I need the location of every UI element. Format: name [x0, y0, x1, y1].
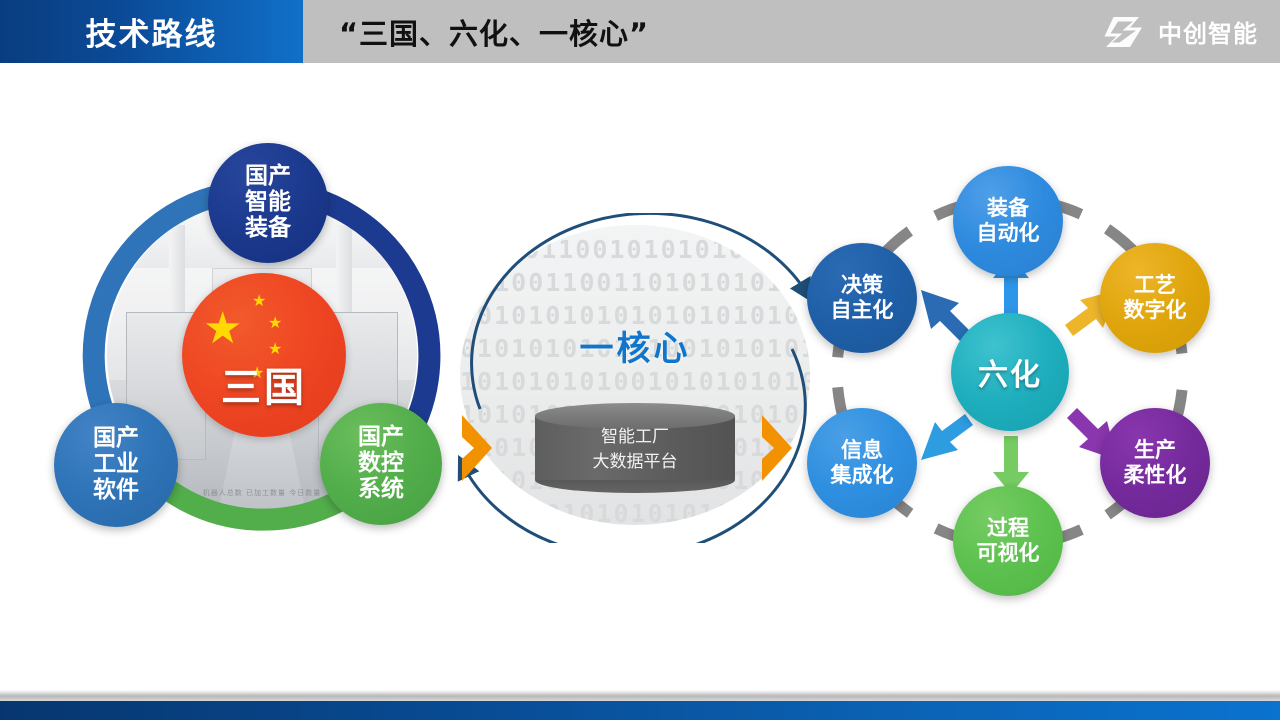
page-title: “三国、六化、一核心” — [303, 0, 1003, 63]
sanguo-group: 机器人总数 已加工数量 今日数量 ★ ★ ★ ★ ★ 三国 国产 智能 装备 — [62, 155, 462, 555]
z-logo-icon — [1100, 14, 1148, 50]
node-line: 生产 — [1134, 438, 1176, 463]
slide-root: 技术路线 “三国、六化、一核心” 中创智能 机器人总数 已加工数量 — [0, 0, 1280, 720]
big-data-platform-cylinder: 智能工厂 大数据平台 — [535, 403, 735, 493]
bubble-guochan-zhineng-zhuangbei[interactable]: 国产 智能 装备 — [208, 143, 328, 263]
bubble-guochan-gongye-ruanjian[interactable]: 国产 工业 软件 — [54, 403, 178, 527]
core-group: 1100110010101010100 10100110011010101010… — [440, 213, 830, 543]
node-line: 自动化 — [977, 221, 1040, 246]
slide-header: 技术路线 “三国、六化、一核心” 中创智能 — [0, 0, 1280, 63]
bubble-line: 系统 — [358, 477, 404, 503]
bubble-line: 装备 — [245, 216, 291, 242]
node-line: 数字化 — [1124, 298, 1187, 323]
node-line: 决策 — [841, 273, 883, 298]
node-zhuangbei-zidonghua[interactable]: 装备 自动化 — [953, 166, 1063, 276]
node-xinxi-jichenghua[interactable]: 信息 集成化 — [807, 408, 917, 518]
node-line: 过程 — [987, 516, 1029, 541]
sanguo-center-circle: ★ ★ ★ ★ ★ 三国 — [182, 273, 346, 437]
core-title: 一核心 — [440, 321, 830, 370]
chevron-right-icon — [758, 413, 798, 483]
node-shengchan-rouxinghua[interactable]: 生产 柔性化 — [1100, 408, 1210, 518]
bubble-line: 数控 — [358, 451, 404, 477]
core-loop-arrows — [440, 213, 830, 543]
liuhua-group: 六化 装备 自动化 工艺 数字化 生产 柔性化 过程 可视化 信息 集成化 — [795, 148, 1245, 598]
node-line: 可视化 — [977, 541, 1040, 566]
cylinder-label-line: 智能工厂 — [535, 425, 735, 450]
node-line: 自主化 — [831, 298, 894, 323]
node-line: 工艺 — [1134, 273, 1176, 298]
flag-star-icon: ★ — [268, 315, 282, 331]
brand-name-label: 中创智能 — [1158, 14, 1258, 49]
footer-blue-bar — [0, 701, 1280, 720]
diagram-stage: 机器人总数 已加工数量 今日数量 ★ ★ ★ ★ ★ 三国 国产 智能 装备 — [0, 63, 1280, 690]
bubble-line: 智能 — [245, 190, 291, 216]
bubble-line: 国产 — [93, 426, 139, 452]
brand-lockup: 中创智能 — [1100, 0, 1258, 63]
node-juece-zizhuhua[interactable]: 决策 自主化 — [807, 243, 917, 353]
node-line: 集成化 — [831, 463, 894, 488]
bubble-line: 国产 — [358, 425, 404, 451]
bubble-guochan-shukong-xitong[interactable]: 国产 数控 系统 — [320, 403, 442, 525]
node-line: 信息 — [841, 438, 883, 463]
arrow-down-left-icon — [919, 406, 975, 462]
liuhua-center-label: 六化 — [951, 313, 1069, 431]
footer-grey-strip — [0, 690, 1280, 701]
node-guocheng-keshihua[interactable]: 过程 可视化 — [953, 486, 1063, 596]
cylinder-label: 智能工厂 大数据平台 — [535, 425, 735, 474]
chevron-left-icon — [458, 413, 498, 483]
bubble-line: 软件 — [93, 478, 139, 504]
node-line: 装备 — [987, 196, 1029, 221]
header-tag-label: 技术路线 — [0, 0, 303, 63]
flag-star-icon: ★ — [203, 307, 242, 351]
bubble-line: 国产 — [245, 164, 291, 190]
cylinder-label-line: 大数据平台 — [535, 450, 735, 475]
flag-star-icon: ★ — [252, 293, 266, 309]
node-gongyi-shuzihua[interactable]: 工艺 数字化 — [1100, 243, 1210, 353]
node-line: 柔性化 — [1124, 463, 1187, 488]
bubble-line: 工业 — [93, 452, 139, 478]
sanguo-center-label: 三国 — [182, 355, 346, 413]
